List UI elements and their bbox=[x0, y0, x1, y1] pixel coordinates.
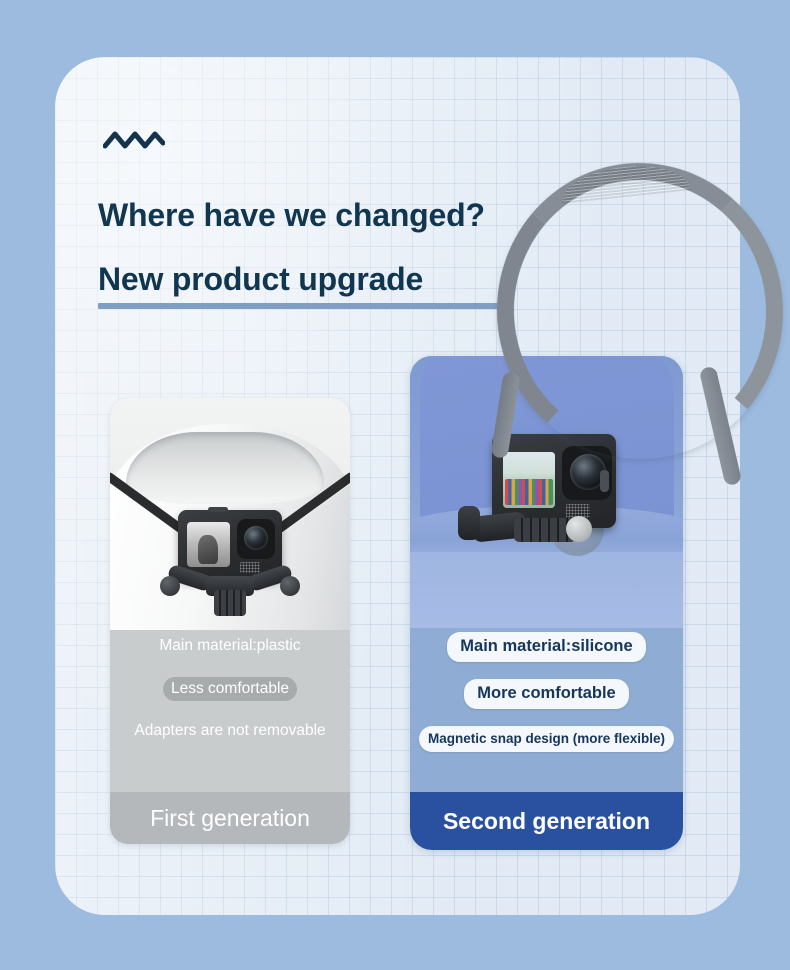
screen-photo-bw bbox=[198, 535, 218, 565]
camera-speaker-grill bbox=[240, 562, 260, 573]
first-generation-card[interactable]: Main material:plastic Less comfortable A… bbox=[110, 398, 350, 844]
spec-row: Less comfortable bbox=[110, 677, 350, 702]
spec-adapters: Adapters are not removable bbox=[126, 719, 333, 744]
screen-photo-color bbox=[503, 452, 555, 508]
page-title-line1: Where have we changed? bbox=[98, 197, 485, 234]
infographic-stage: Where have we changed? New product upgra… bbox=[0, 0, 790, 970]
spec-row: Magnetic snap design (more flexible) bbox=[410, 726, 683, 752]
neck-opening bbox=[126, 432, 324, 504]
magnetic-snap-button bbox=[566, 516, 592, 542]
adapter-hinge bbox=[214, 590, 246, 616]
adapter-knob-right bbox=[280, 576, 300, 596]
first-generation-footer: First generation bbox=[110, 792, 350, 844]
second-generation-footer: Second generation bbox=[410, 792, 683, 850]
spec-row: More comfortable bbox=[410, 679, 683, 709]
camera-lens bbox=[244, 526, 268, 550]
first-generation-photo bbox=[110, 398, 350, 630]
spec-row: Main material:silicone bbox=[410, 632, 683, 662]
second-generation-label: Second generation bbox=[443, 808, 650, 835]
spec-row: Main material:plastic bbox=[110, 634, 350, 659]
backdrop-lower-step bbox=[410, 552, 683, 628]
camera-shutter-button bbox=[208, 507, 228, 512]
spec-material: Main material:silicone bbox=[447, 632, 645, 662]
spec-comfort: More comfortable bbox=[464, 679, 628, 709]
title-underline bbox=[98, 303, 502, 309]
camera-front-screen bbox=[503, 452, 555, 508]
spec-magnetic-snap: Magnetic snap design (more flexible) bbox=[419, 726, 674, 752]
spec-material: Main material:plastic bbox=[151, 634, 308, 659]
magnetic-snap-clip bbox=[458, 506, 480, 540]
first-generation-specs: Main material:plastic Less comfortable A… bbox=[110, 634, 350, 762]
second-generation-specs: Main material:silicone More comfortable … bbox=[410, 632, 683, 769]
adapter-knob-left bbox=[160, 576, 180, 596]
zigzag-icon bbox=[103, 126, 165, 152]
camera-side-button bbox=[600, 470, 609, 492]
camera-front-screen bbox=[187, 522, 230, 567]
spec-row: Adapters are not removable bbox=[110, 719, 350, 744]
page-title-line2: New product upgrade bbox=[98, 261, 423, 298]
first-generation-label: First generation bbox=[150, 805, 310, 832]
spec-comfort: Less comfortable bbox=[163, 677, 297, 702]
